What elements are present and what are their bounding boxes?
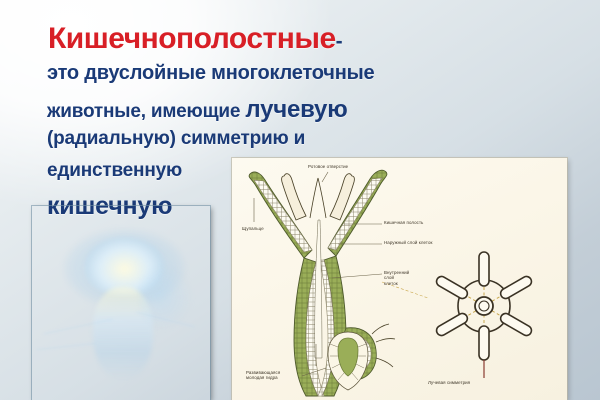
label-inner-layer-line3: клеток	[384, 281, 398, 286]
label-tentacle: Щупальце	[242, 226, 264, 231]
hydra-anatomy-diagram: Ротовое отверстие Щупальце Кишечная поло…	[232, 158, 567, 400]
page-title-text: Кишечнополостные	[48, 22, 336, 55]
page-title: Кишечнополостные-	[48, 22, 342, 59]
title-dash: -	[336, 30, 343, 53]
body-line-2-emphasis: лучевую	[245, 96, 347, 123]
body-line-1: это двуслойные многоклеточные	[47, 62, 374, 85]
label-outer-layer: Наружный слой клеток	[384, 240, 433, 245]
body-line-2-normal: животные, имеющие	[47, 101, 245, 122]
body-line-3: (радиальную) симметрию и	[47, 128, 305, 150]
label-mouth: Ротовое отверстие	[308, 164, 348, 169]
mouth-ring-inner	[479, 301, 489, 311]
slide-canvas: Кишечнополостные- это двуслойные многокл…	[0, 0, 600, 400]
label-inner-layer-line1: Внутренний	[384, 270, 409, 275]
label-inner-layer: Внутренний слой клеток	[384, 270, 409, 286]
label-gut-cavity: Кишечная полость	[384, 220, 423, 225]
label-young-hydra: Развивающаяся молодая гидра	[246, 370, 280, 381]
radial-symmetry-figure	[435, 252, 534, 378]
label-inner-layer-line2: слой	[384, 275, 394, 280]
body-line-4: единственную	[47, 160, 182, 182]
body-line-2: животные, имеющие лучевую	[47, 96, 348, 124]
gut-cavity-shape	[315, 220, 322, 358]
mouth-opening	[310, 178, 326, 218]
label-radial-symmetry: Лучевая симметрия	[428, 380, 470, 385]
label-young-hydra-line2: молодая гидра	[246, 375, 278, 380]
jellyfish-strand	[36, 343, 96, 350]
jellyfish-photo	[32, 206, 210, 400]
label-young-hydra-line1: Развивающаяся	[246, 370, 280, 375]
